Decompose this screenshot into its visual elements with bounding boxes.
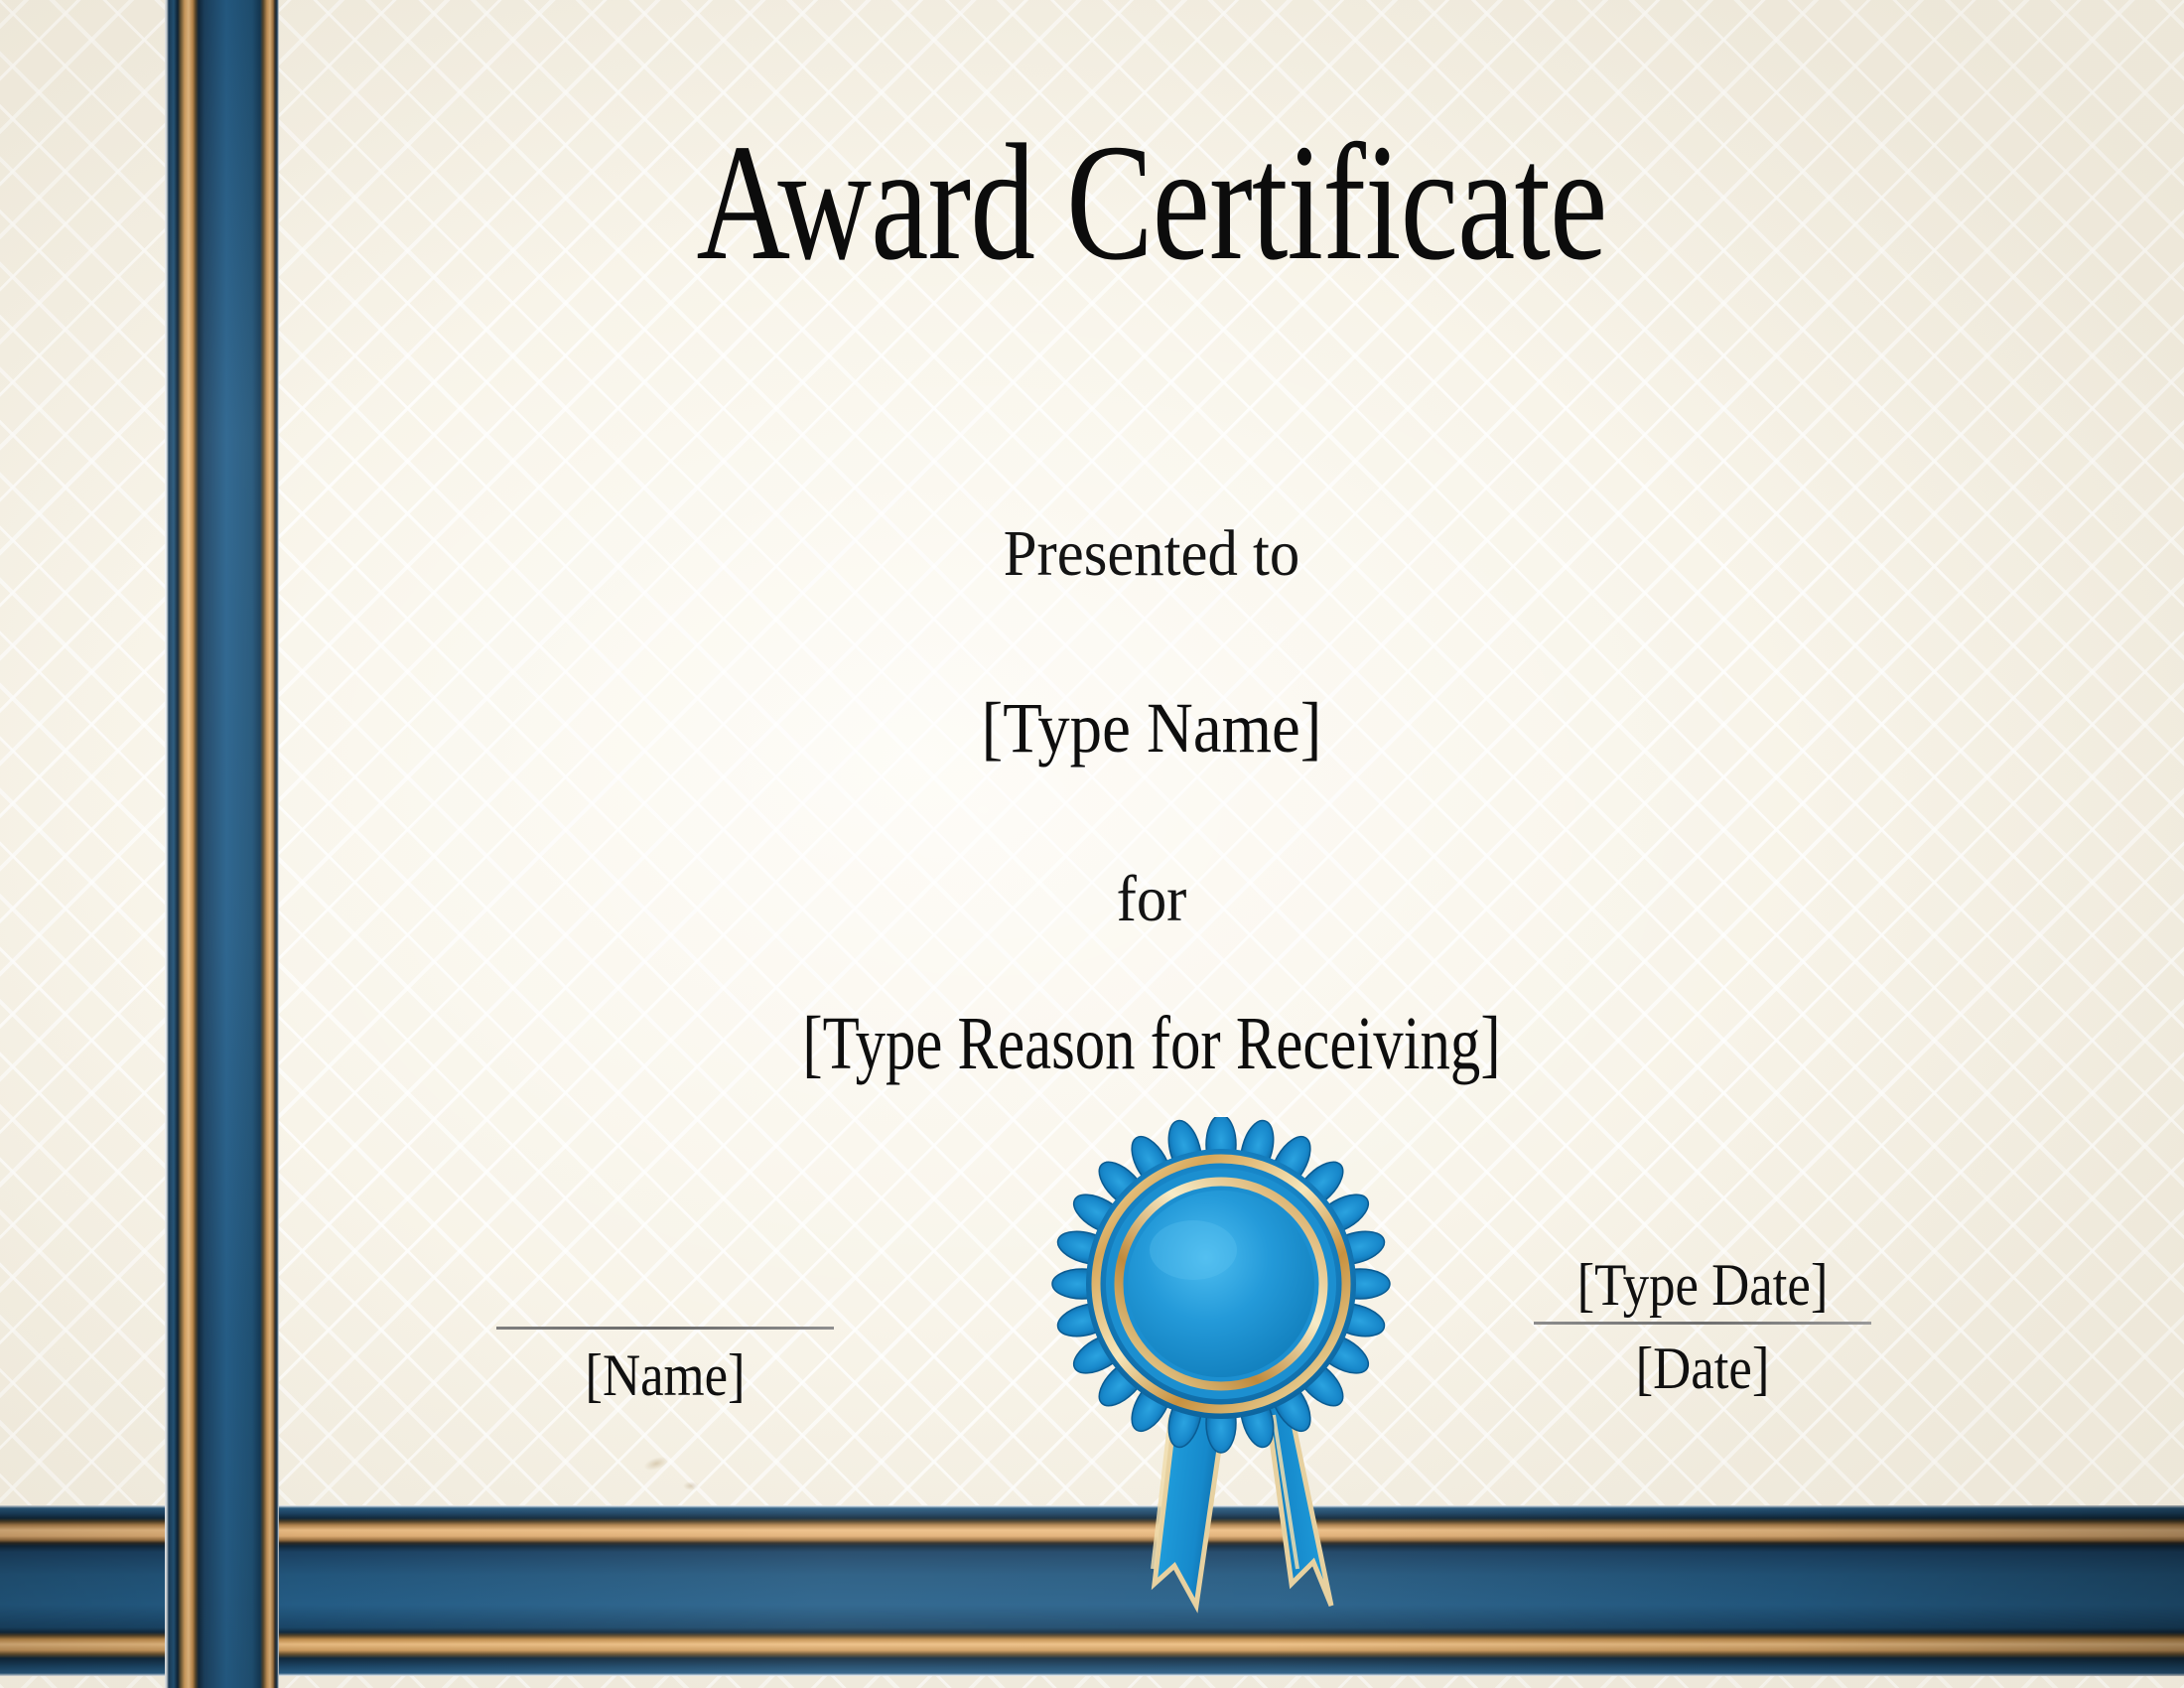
date-value-field[interactable]: [Type Date] [1554,1253,1850,1318]
page-title: Award Certificate [485,119,1818,286]
presented-to-label: Presented to [366,516,1937,592]
date-block: [Type Date] [Date] [1534,1253,1871,1403]
signature-block: [Name] [496,1327,834,1410]
paper-speck-secondary [683,1481,699,1490]
signature-name-label[interactable]: [Name] [516,1341,813,1410]
award-reason-field[interactable]: [Type Reason for Receiving] [469,1001,1835,1087]
signature-rule [496,1327,834,1330]
date-caption-label: [Date] [1554,1335,1850,1403]
award-ribbon-rosette-icon [1047,1117,1395,1633]
award-certificate: Award Certificate Presented to [Type Nam… [0,0,2184,1688]
left-border-band [165,0,279,1688]
for-label: for [366,862,1937,937]
recipient-name-field[interactable]: [Type Name] [383,687,1920,770]
date-rule [1534,1322,1871,1325]
